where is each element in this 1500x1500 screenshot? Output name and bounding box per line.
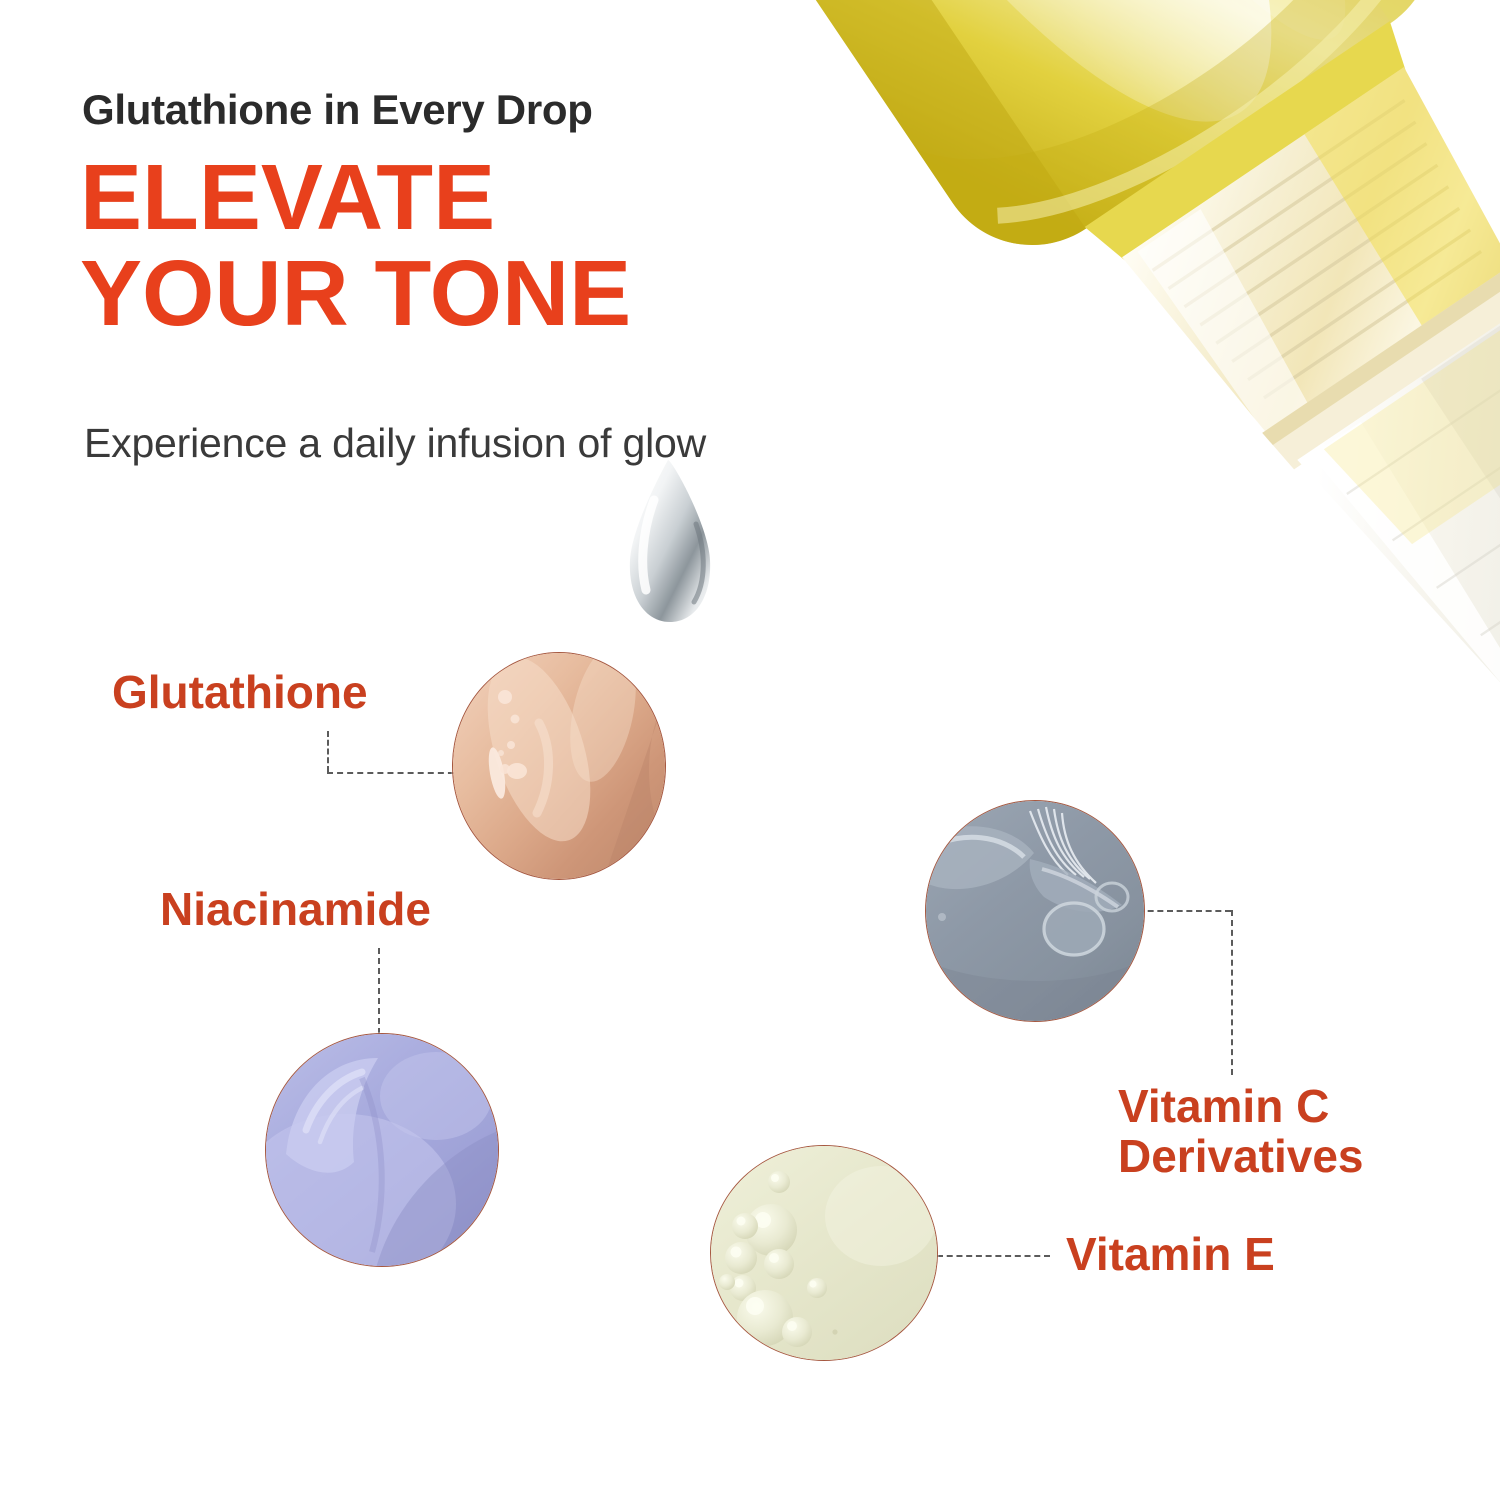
ingredient-label-niacinamide: Niacinamide (160, 885, 431, 935)
swatch-vitamin-c[interactable] (925, 800, 1145, 1022)
connector-niacinamide-vertical (378, 948, 380, 1034)
connector-vitamine-horizontal (937, 1255, 1050, 1257)
hero-headline-line2: YOUR TONE (80, 246, 840, 342)
ingredient-label-vitamin-e: Vitamin E (1066, 1230, 1275, 1280)
ingredient-label-vitamin-c-line1: Vitamin C (1118, 1080, 1329, 1132)
hero-headline-line1: ELEVATE (80, 145, 495, 249)
swatch-niacinamide[interactable] (265, 1033, 499, 1267)
ingredient-label-vitamin-c: Vitamin C Derivatives (1118, 1082, 1364, 1181)
hero-eyebrow: Glutathione in Every Drop (82, 86, 593, 134)
connector-glutathione-vertical (327, 731, 329, 772)
ingredient-label-vitamin-c-line2: Derivatives (1118, 1130, 1364, 1182)
serum-droplet (630, 460, 710, 622)
connector-vitaminc-vertical (1231, 910, 1233, 1075)
hero-subline: Experience a daily infusion of glow (84, 420, 706, 467)
connector-vitaminc-horizontal (1138, 910, 1231, 912)
swatch-vitamin-e[interactable] (710, 1145, 938, 1361)
connector-glutathione-horizontal (327, 772, 464, 774)
ingredient-label-glutathione: Glutathione (112, 668, 368, 718)
product-infographic: VITAMIN BOOSTING L-GLUTATHIONE L-Glutath… (0, 0, 1500, 1500)
swatch-glutathione[interactable] (452, 652, 666, 880)
hero-headline: ELEVATE YOUR TONE (80, 150, 840, 342)
